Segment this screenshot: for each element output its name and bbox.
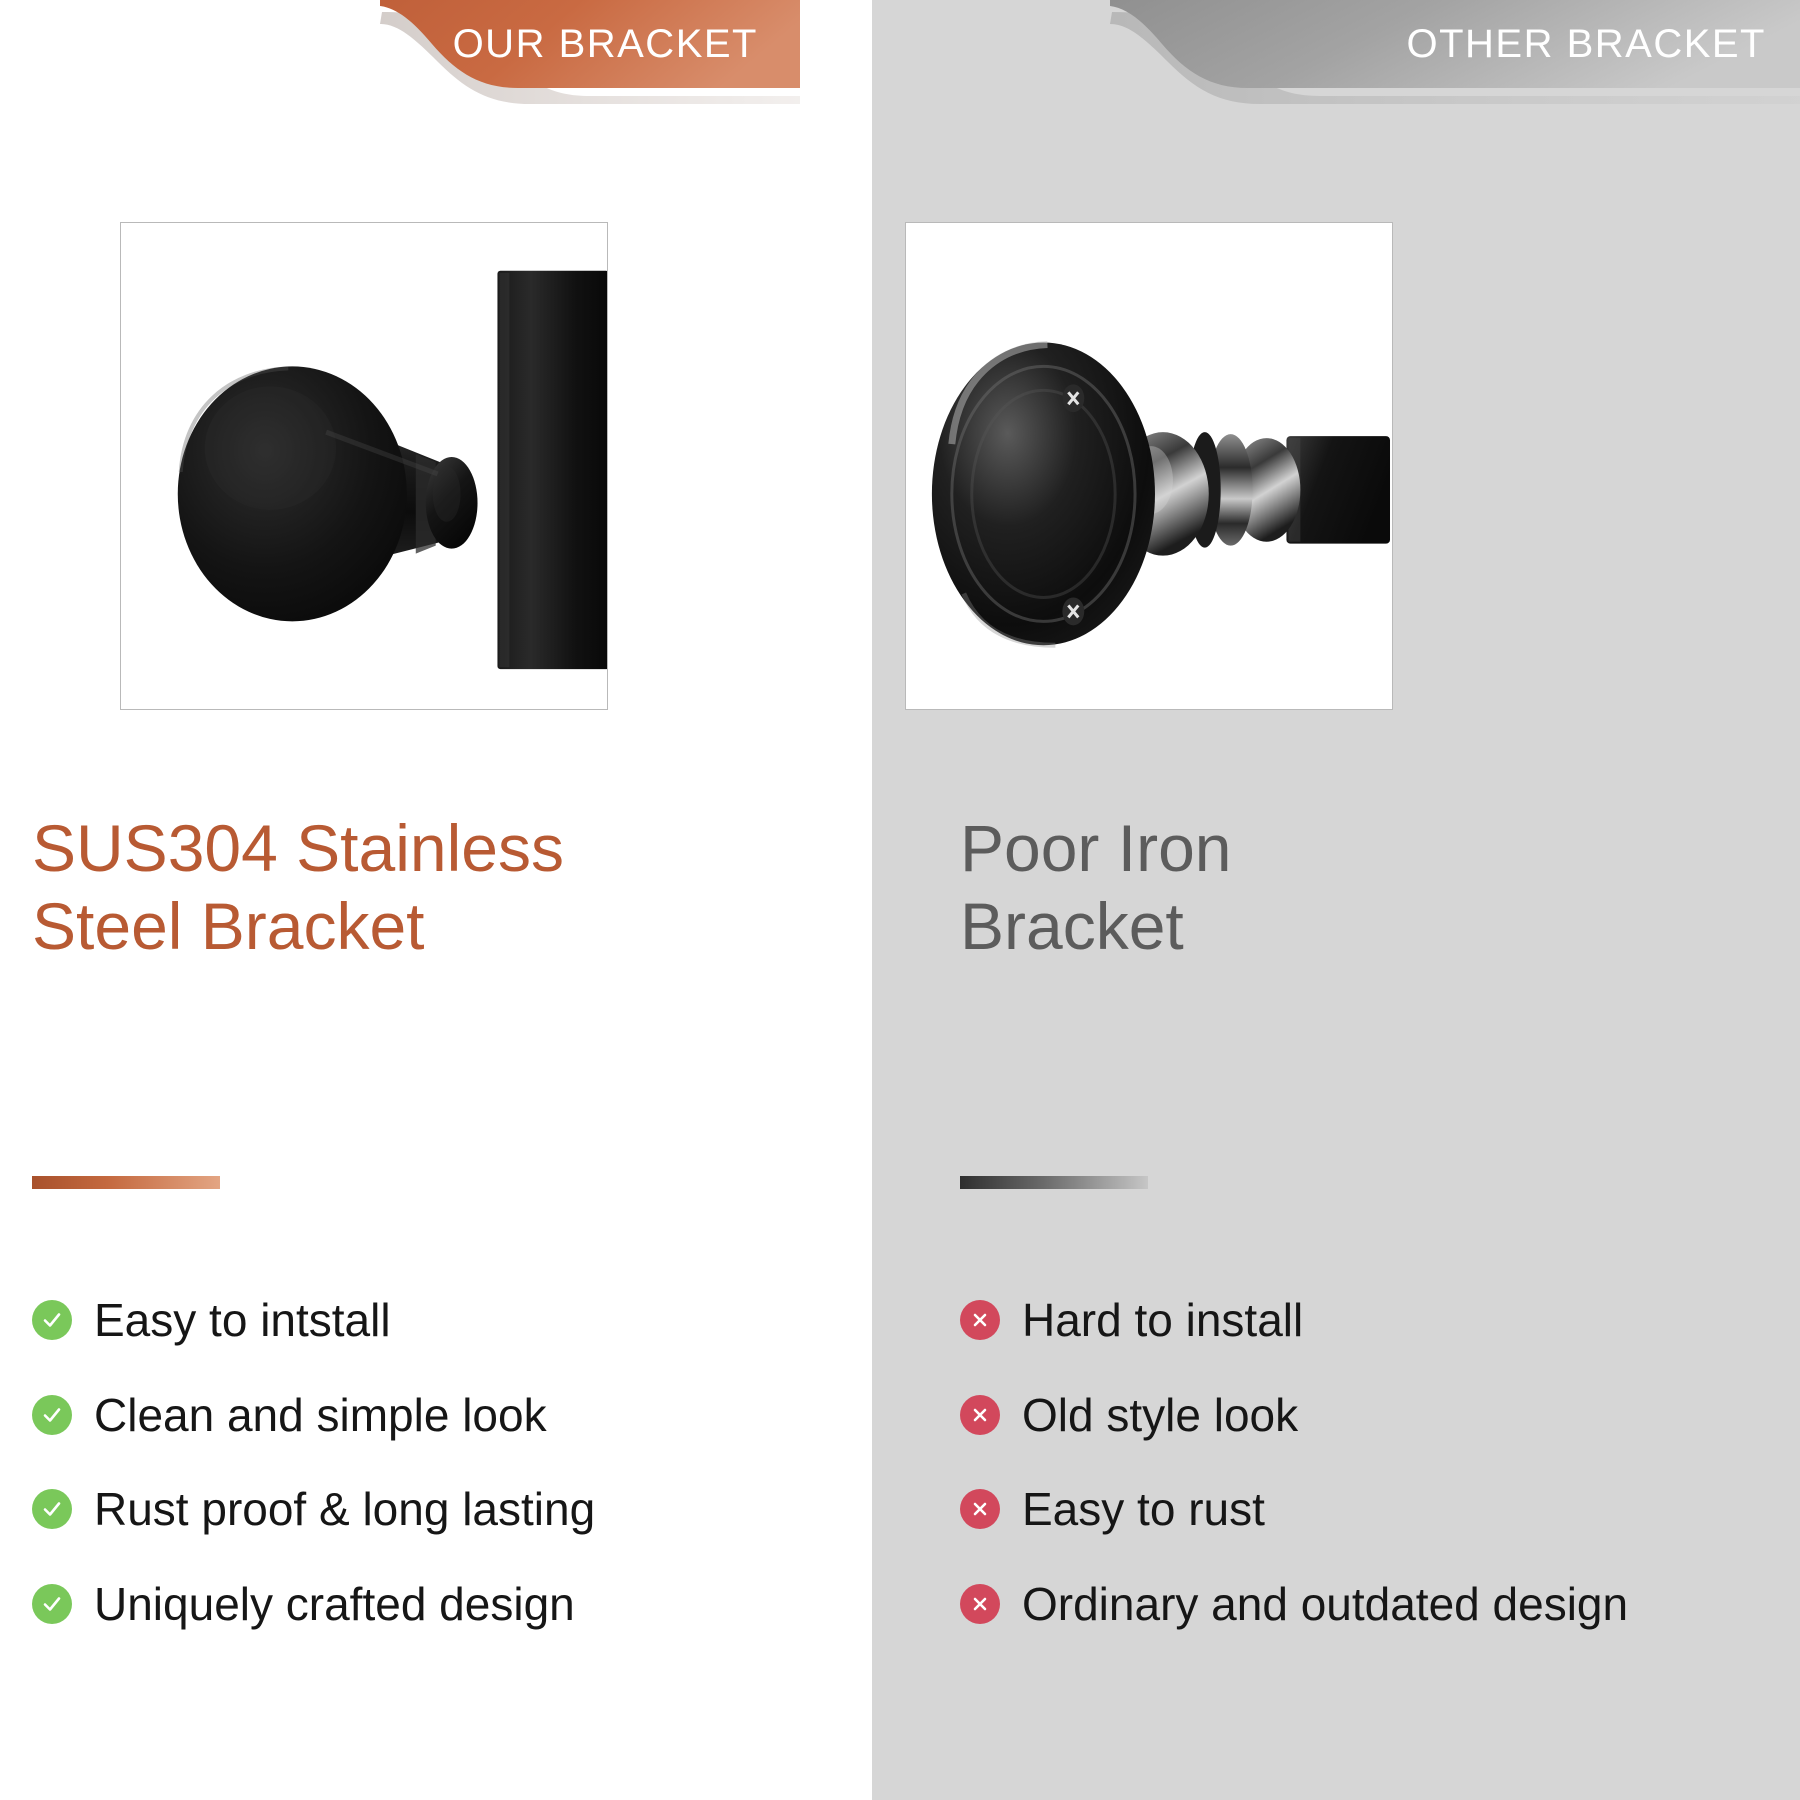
stainless-bracket-illustration [121,223,607,709]
our-bracket-banner: OUR BRACKET [380,0,800,96]
check-circle-icon [32,1300,72,1340]
other-bracket-banner-label: OTHER BRACKET [1406,0,1766,88]
list-item: Rust proof & long lasting [32,1479,732,1540]
list-item: Ordinary and outdated design [960,1574,1660,1635]
list-item-label: Hard to install [1022,1290,1303,1351]
list-item-label: Old style look [1022,1385,1298,1446]
check-circle-icon [32,1395,72,1435]
cross-circle-icon [960,1395,1000,1435]
check-circle-icon [32,1584,72,1624]
list-item-label: Clean and simple look [94,1385,547,1446]
other-bracket-divider [960,1176,1148,1189]
iron-bracket-illustration [906,223,1392,709]
list-item-label: Ordinary and outdated design [1022,1574,1628,1635]
our-bracket-title: SUS304 Stainless Steel Bracket [32,810,712,966]
other-bracket-title: Poor Iron Bracket [960,810,1600,966]
cross-circle-icon [960,1300,1000,1340]
list-item: Uniquely crafted design [32,1574,732,1635]
list-item-label: Uniquely crafted design [94,1574,575,1635]
other-bracket-feature-list: Hard to install Old style look Easy to r… [960,1290,1660,1669]
list-item: Easy to rust [960,1479,1660,1540]
our-bracket-banner-label: OUR BRACKET [453,0,758,88]
other-bracket-photo [905,222,1393,710]
list-item: Clean and simple look [32,1385,732,1446]
our-bracket-photo [120,222,608,710]
list-item: Easy to intstall [32,1290,732,1351]
list-item-label: Easy to rust [1022,1479,1265,1540]
cross-circle-icon [960,1584,1000,1624]
comparison-infographic: OUR BRACKET OTHER BRACKET [0,0,1800,1800]
check-circle-icon [32,1489,72,1529]
other-bracket-banner: OTHER BRACKET [1110,0,1800,96]
list-item: Old style look [960,1385,1660,1446]
our-bracket-divider [32,1176,220,1189]
list-item-label: Easy to intstall [94,1290,391,1351]
list-item-label: Rust proof & long lasting [94,1479,595,1540]
list-item: Hard to install [960,1290,1660,1351]
our-bracket-feature-list: Easy to intstall Clean and simple look R… [32,1290,732,1669]
cross-circle-icon [960,1489,1000,1529]
